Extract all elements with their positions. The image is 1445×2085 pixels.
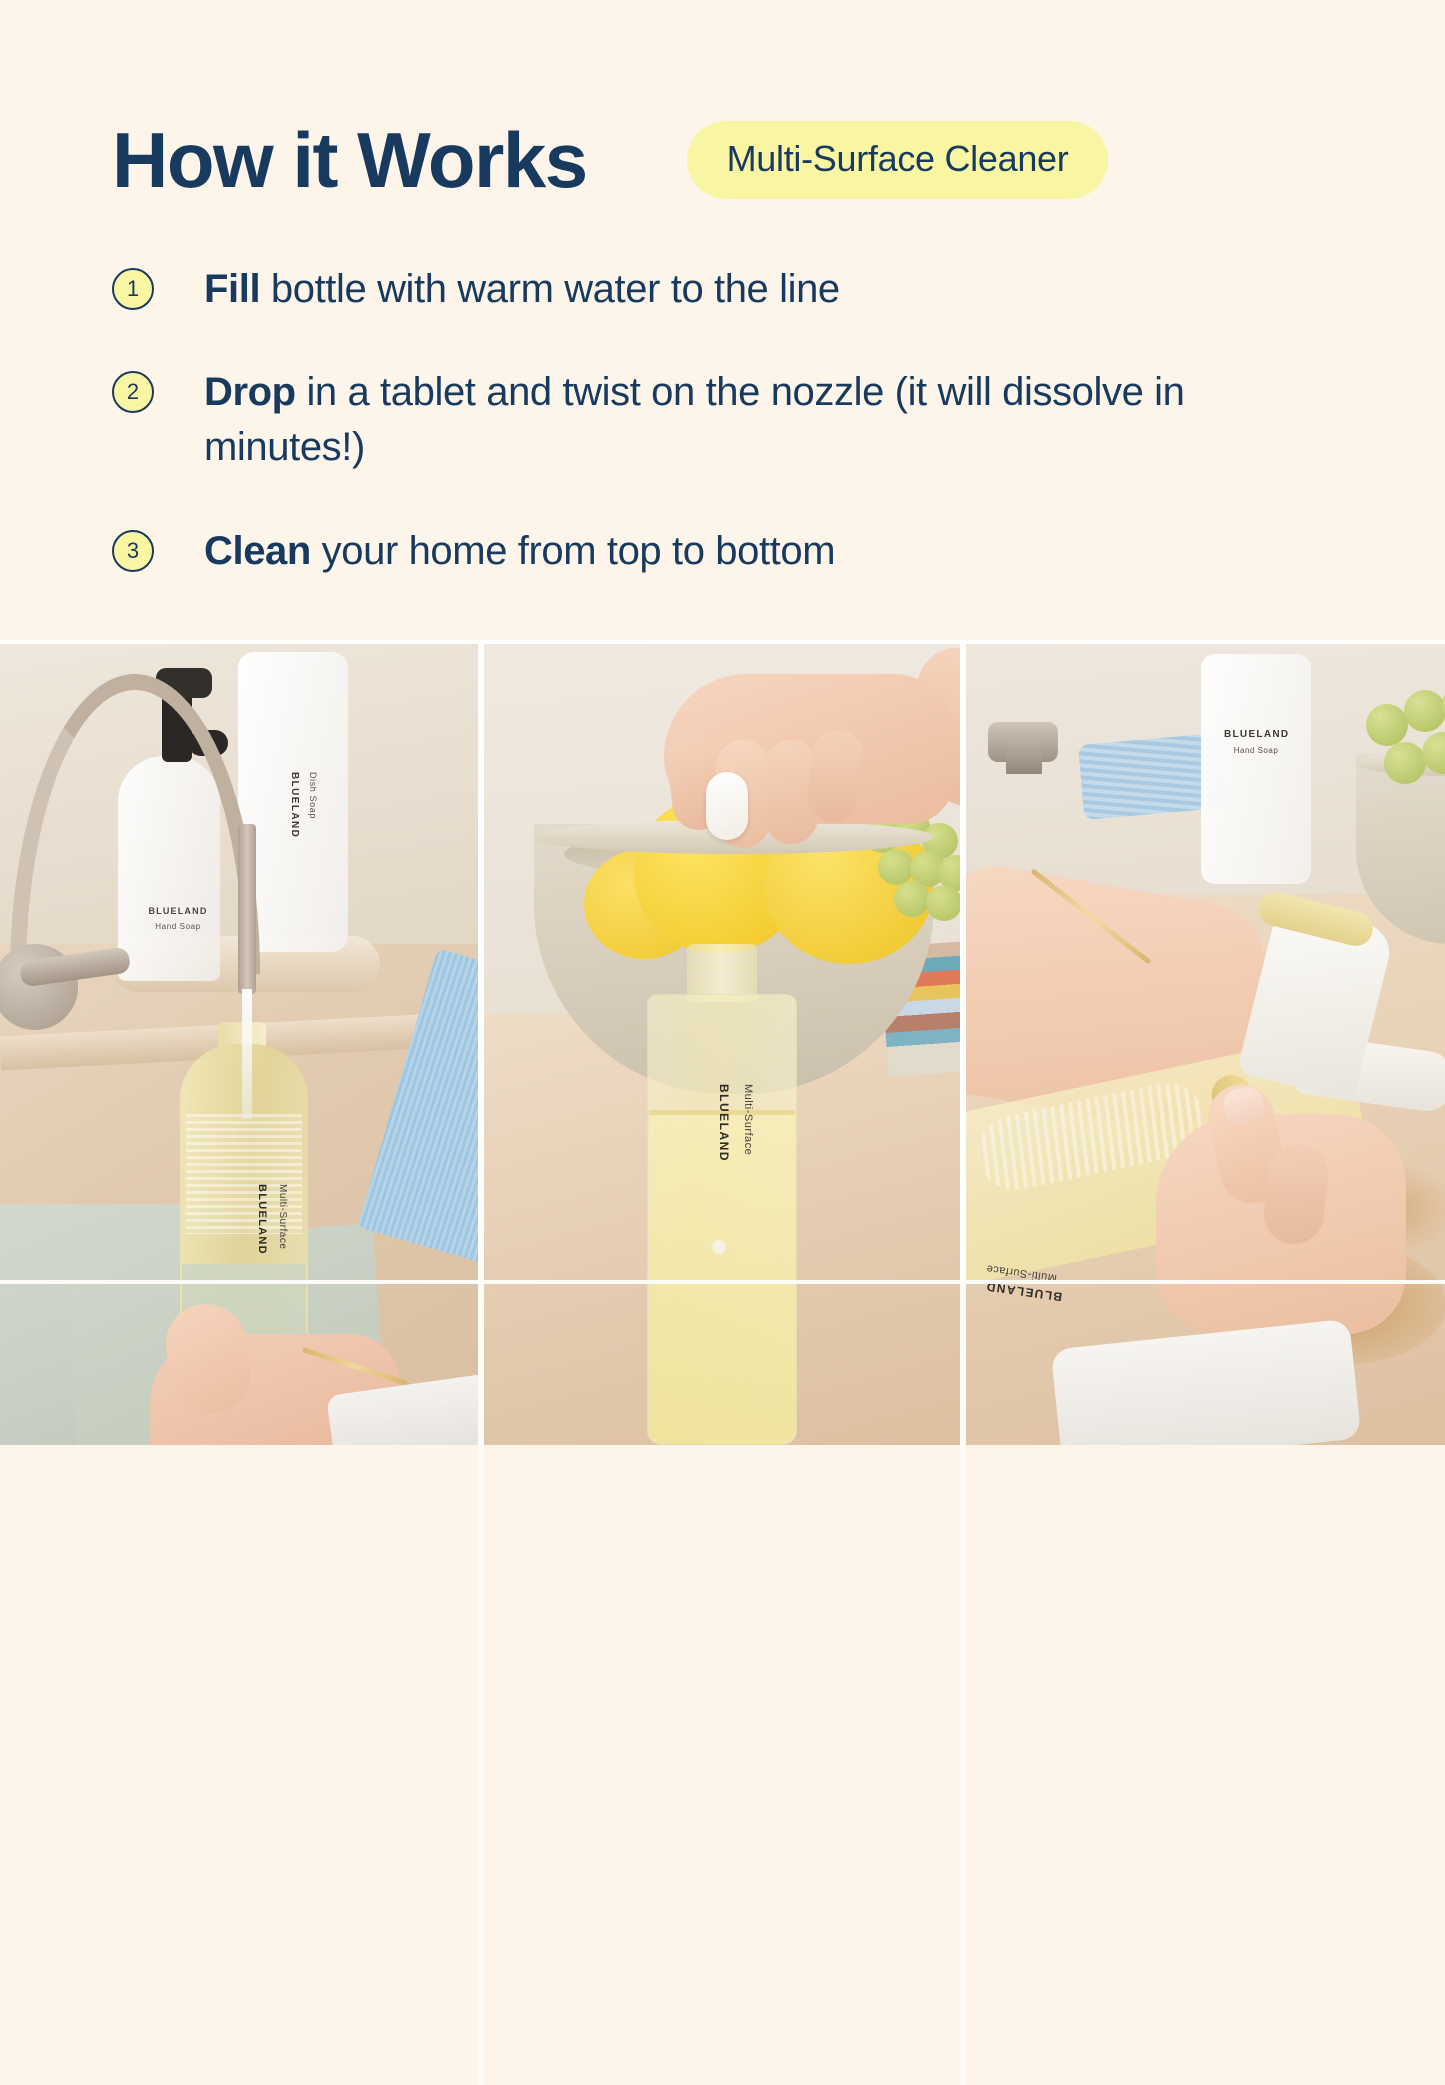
photo-panel-clean: BLUELAND Hand Soap BLUELAND Multi-Surfac… xyxy=(966,644,1445,1445)
steps-list: 1 Fill bottle with warm water to the lin… xyxy=(112,262,1372,579)
faucet-spout xyxy=(238,824,256,994)
cleaning-tablet xyxy=(706,772,748,840)
step-keyword-3: Clean xyxy=(204,529,311,573)
step-item-3: 3 Clean your home from top to bottom xyxy=(112,524,1372,579)
faucet-body xyxy=(1006,740,1042,774)
step-keyword-2: Drop xyxy=(204,370,296,414)
strip-top-gap xyxy=(0,1280,1445,1284)
photo-panel-fill: BLUELAND Hand Soap BLUELAND Dish Soap BL… xyxy=(0,644,478,1445)
bottle-product-label: Multi-Surface xyxy=(277,1184,288,1249)
panel-divider xyxy=(960,1280,966,2085)
step-keyword-1: Fill xyxy=(204,267,260,311)
step-number-badge-3: 3 xyxy=(112,530,154,572)
infographic-page: How it Works Multi-Surface Cleaner 1 Fil… xyxy=(0,0,1445,1445)
step-body-2: in a tablet and twist on the nozzle (it … xyxy=(204,370,1185,469)
hand-soap-product-label: Hand Soap xyxy=(1224,746,1288,755)
step-text-3: Clean your home from top to bottom xyxy=(204,524,835,579)
page-title: How it Works xyxy=(112,121,587,199)
water-stream xyxy=(242,989,252,1119)
bottle-brand-label: BLUELAND xyxy=(256,1184,268,1255)
hand-soap-bottle xyxy=(1201,654,1311,884)
step-body-3: your home from top to bottom xyxy=(311,529,835,573)
step-body-1: bottle with warm water to the line xyxy=(260,267,840,311)
product-badge: Multi-Surface Cleaner xyxy=(687,121,1109,199)
photo-panel-drop: BLUELAND Multi-Surface xyxy=(484,644,960,1445)
step-number-badge-2: 2 xyxy=(112,371,154,413)
hand-soap-brand-label: BLUELAND xyxy=(1224,729,1288,740)
step-item-1: 1 Fill bottle with warm water to the lin… xyxy=(112,262,1372,317)
grape-cluster xyxy=(1366,684,1445,794)
step-text-1: Fill bottle with warm water to the line xyxy=(204,262,840,317)
step-item-2: 2 Drop in a tablet and twist on the nozz… xyxy=(112,365,1372,475)
dish-soap-product-label: Dish Soap xyxy=(308,772,318,819)
bottle-product-label: Multi-Surface xyxy=(742,1084,754,1155)
bottle-liquid xyxy=(649,1114,795,1444)
panel-divider xyxy=(478,1280,484,2085)
product-badge-label: Multi-Surface Cleaner xyxy=(727,138,1069,179)
photo-strip: BLUELAND Hand Soap BLUELAND Dish Soap BL… xyxy=(0,640,1445,1445)
bottle-brand-label: BLUELAND xyxy=(717,1084,731,1162)
bottle-fill-dot xyxy=(712,1240,726,1254)
step-number-badge-1: 1 xyxy=(112,268,154,310)
step-text-2: Drop in a tablet and twist on the nozzle… xyxy=(204,365,1334,475)
instructions-panel: How it Works Multi-Surface Cleaner 1 Fil… xyxy=(0,0,1445,640)
header-row: How it Works Multi-Surface Cleaner xyxy=(112,110,1362,210)
dish-soap-brand-label: BLUELAND xyxy=(289,772,300,838)
